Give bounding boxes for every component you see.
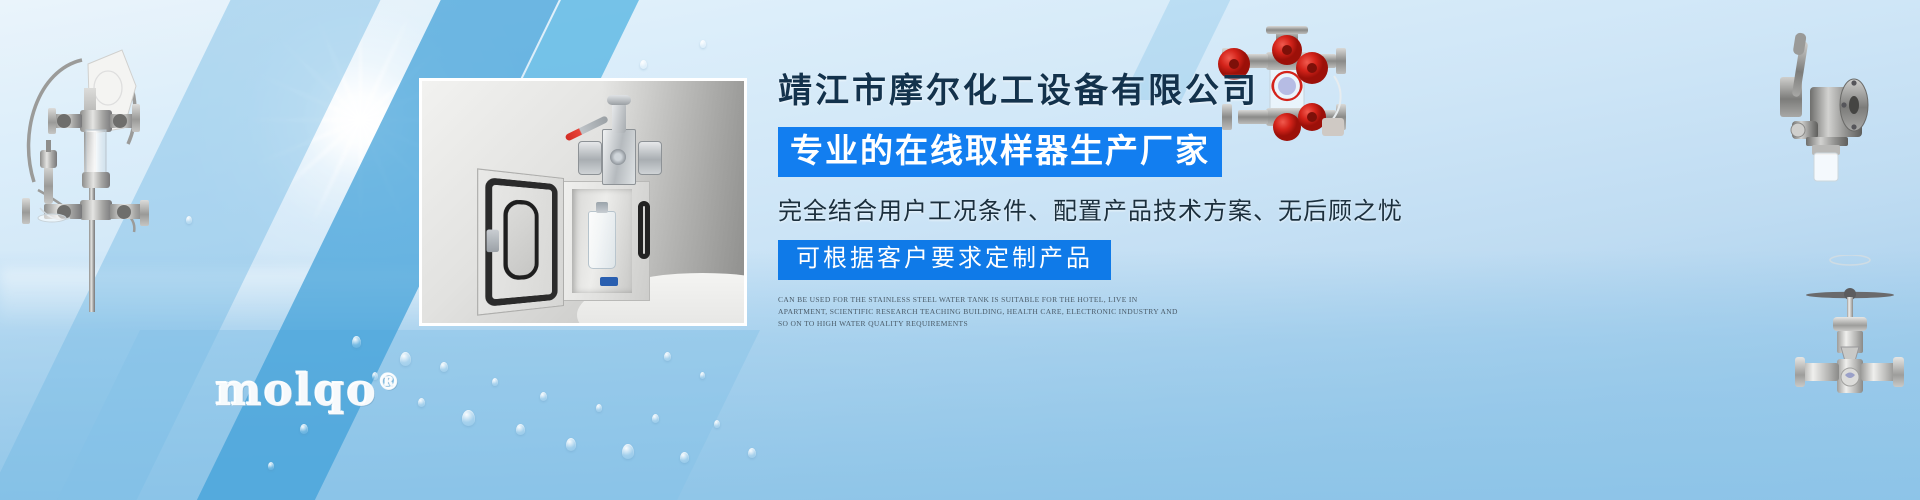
water-droplet-icon (440, 362, 448, 372)
water-droplet-icon (652, 414, 659, 423)
water-droplet-icon (680, 452, 689, 463)
company-name: 靖江市摩尔化工设备有限公司 (778, 72, 1398, 113)
flanged-lever-valve-image (1780, 25, 1910, 190)
water-droplet-icon (268, 462, 274, 470)
headline-badge: 专业的在线取样器生产厂家 (778, 127, 1222, 177)
brand-watermark-text: molqo (215, 365, 378, 416)
water-droplet-icon (700, 40, 706, 48)
water-droplet-icon (596, 404, 602, 412)
water-droplet-icon (516, 424, 525, 435)
water-droplet-icon (418, 398, 425, 407)
water-droplet-icon (352, 336, 361, 348)
subheadline: 完全结合用户工况条件、配置产品技术方案、无后顾之忧 (778, 191, 1398, 226)
water-droplet-icon (540, 392, 547, 401)
water-droplet-icon (640, 60, 647, 69)
sampling-cabinet-photo (419, 78, 747, 326)
water-droplet-icon (748, 448, 756, 458)
brand-watermark: molqo® (215, 365, 402, 416)
tagline-badge: 可根据客户要求定制产品 (778, 240, 1111, 280)
water-droplet-icon (714, 420, 720, 428)
water-droplet-icon (700, 372, 705, 379)
water-droplet-icon (186, 216, 192, 224)
water-droplet-icon (622, 444, 634, 459)
sampling-valve-assembly (574, 101, 664, 187)
water-droplet-icon (492, 378, 498, 386)
english-description: CAN BE USED FOR THE STAINLESS STEEL WATE… (778, 294, 1178, 331)
water-droplet-icon (400, 352, 411, 366)
registered-mark-icon: ® (378, 369, 402, 395)
promo-banner: 靖江市摩尔化工设备有限公司 专业的在线取样器生产厂家 完全结合用户工况条件、配置… (0, 0, 1920, 500)
water-droplet-icon (566, 438, 576, 451)
pole-mounted-sampler-image (8, 22, 158, 312)
headline-text-block: 靖江市摩尔化工设备有限公司 专业的在线取样器生产厂家 完全结合用户工况条件、配置… (778, 72, 1398, 331)
water-droplet-icon (300, 424, 308, 434)
handwheel-sample-valve-image (1795, 255, 1905, 400)
water-droplet-icon (664, 352, 671, 361)
water-droplet-icon (462, 410, 475, 426)
